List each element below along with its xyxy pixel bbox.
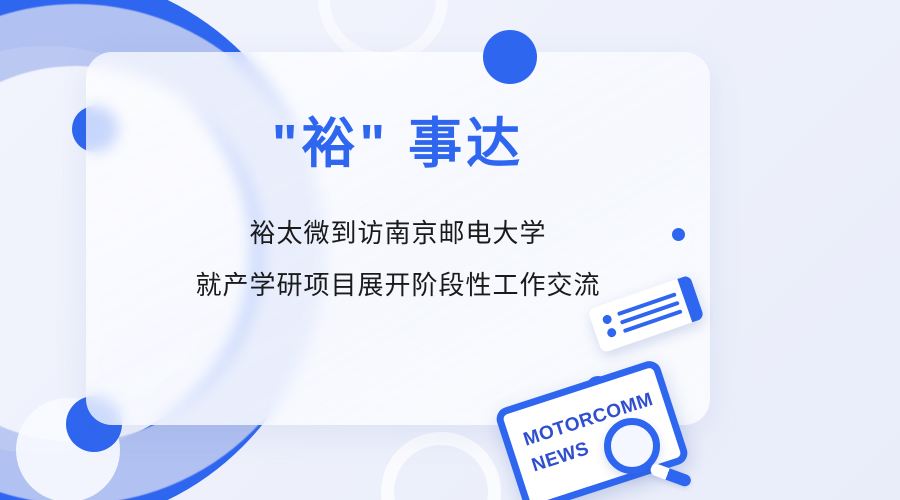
blue-dot-top-right <box>483 30 537 84</box>
content-card: "裕" 事达 裕太微到访南京邮电大学 就产学研项目展开阶段性工作交流 <box>86 52 710 425</box>
page-title: "裕" 事达 <box>86 52 710 173</box>
blue-dot-small-middle <box>672 228 685 241</box>
list-bullet-dot-1 <box>601 314 612 325</box>
magnifier-handle <box>649 462 693 488</box>
magnifier-icon <box>604 418 690 492</box>
news-banner: "裕" 事达 裕太微到访南京邮电大学 就产学研项目展开阶段性工作交流 MOTOR… <box>0 0 900 500</box>
list-bullet-dot-2 <box>606 327 617 338</box>
subtitle-block: 裕太微到访南京邮电大学 就产学研项目展开阶段性工作交流 <box>86 207 710 311</box>
headline-block: "裕" 事达 <box>86 52 710 173</box>
white-ring-bottom-decoration <box>381 432 501 500</box>
subtitle-line-1: 裕太微到访南京邮电大学 <box>86 207 710 259</box>
